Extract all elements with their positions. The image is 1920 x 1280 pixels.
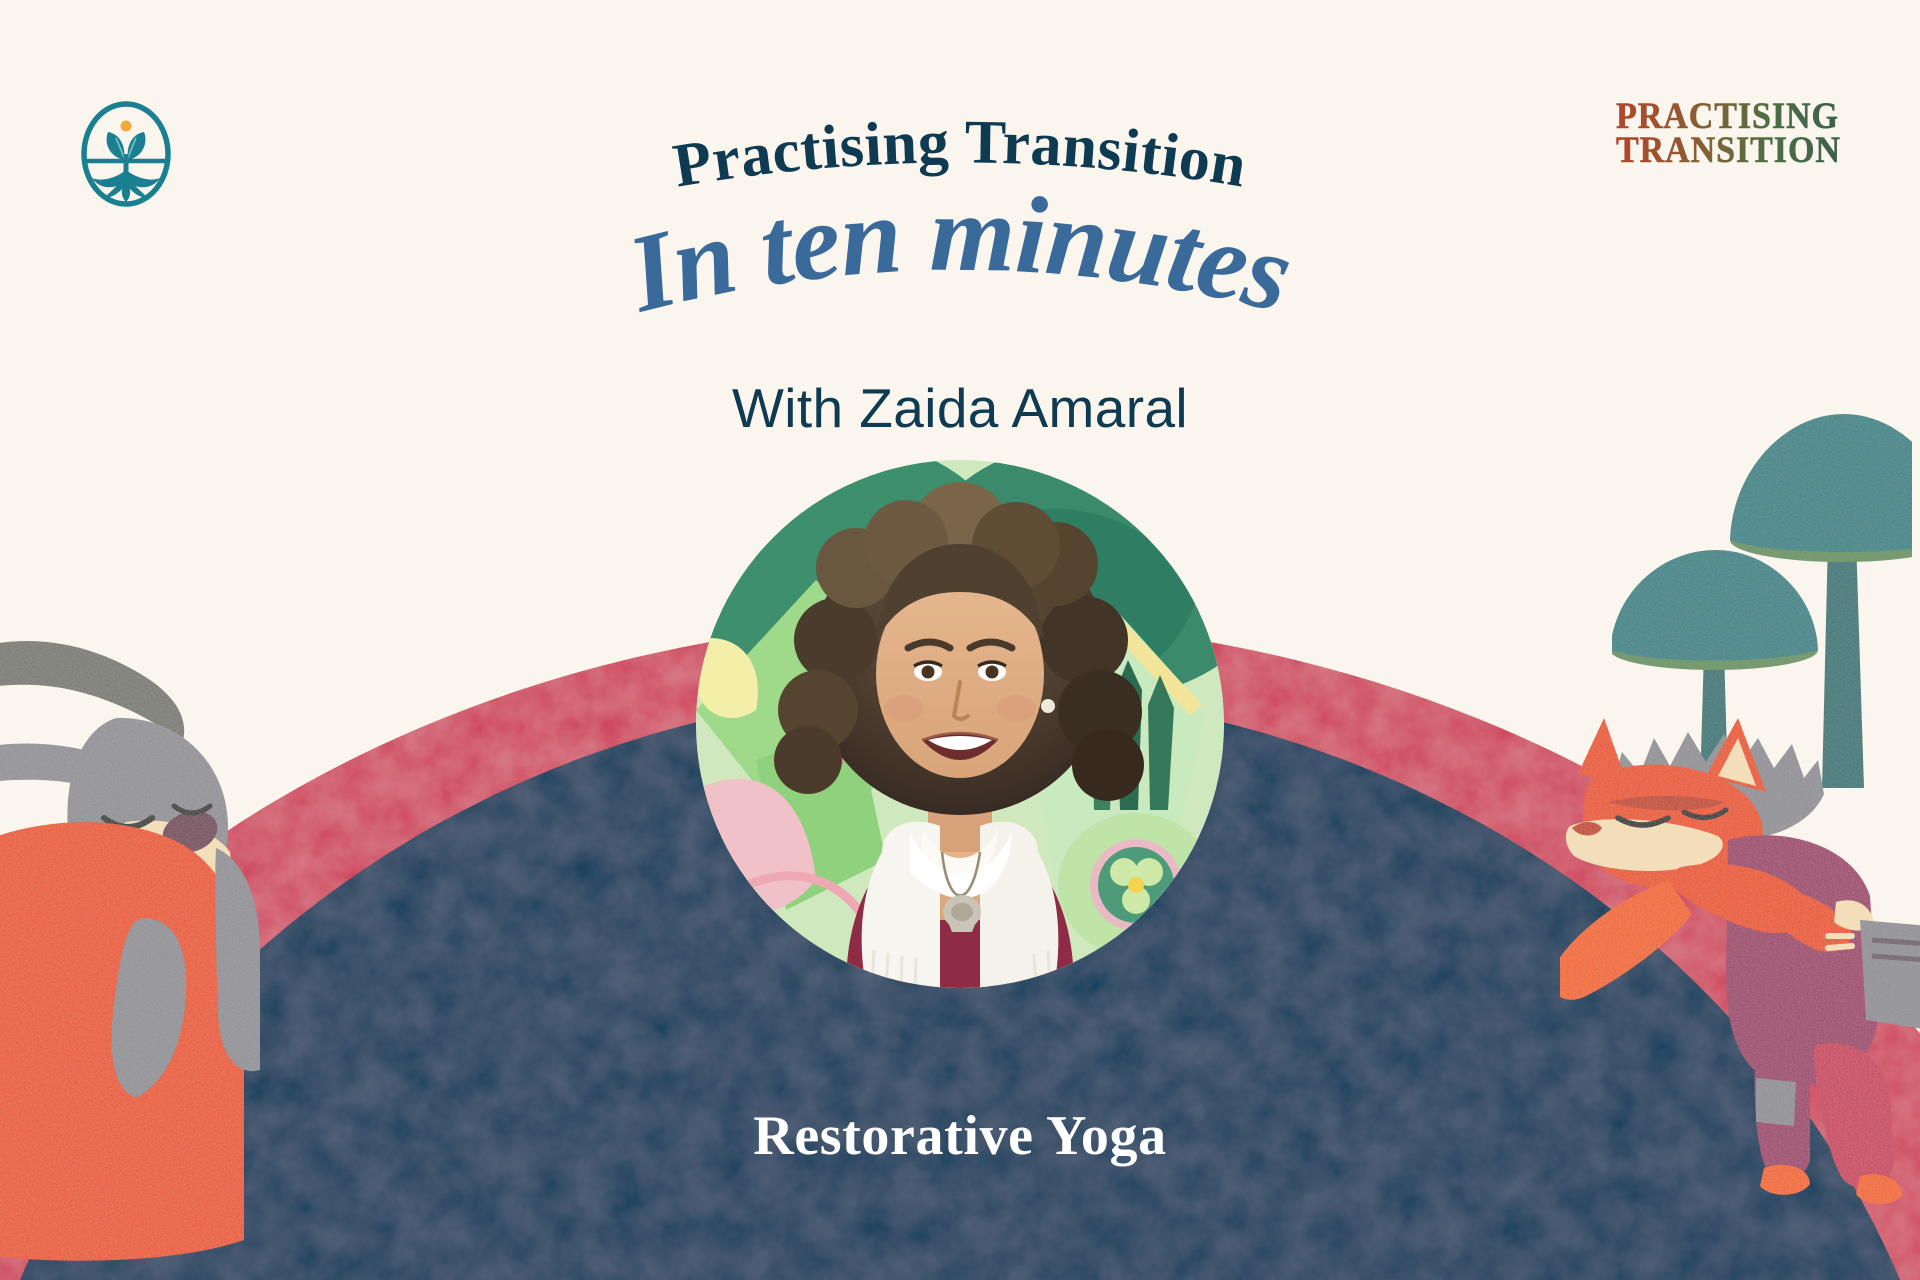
presenter-portrait [696,460,1224,988]
headline-title: In ten minutes [615,172,1303,336]
headline-arc-svg: Practising Transition In ten minutes [0,0,1920,380]
headline-title-text: In ten minutes [615,172,1303,336]
headline-block: Practising Transition In ten minutes [0,0,1920,380]
portrait-image [696,460,1224,988]
poster-canvas: PRACTISING TRANSITION Practising Transit… [0,0,1920,1280]
sleeping-fox-icon [1560,690,1920,1280]
sleeping-hare-icon [0,600,336,1280]
illustration-sleeping-fox [1560,690,1920,1280]
illustration-sleeping-hare [0,600,336,1280]
session-title: Restorative Yoga [0,1104,1920,1168]
